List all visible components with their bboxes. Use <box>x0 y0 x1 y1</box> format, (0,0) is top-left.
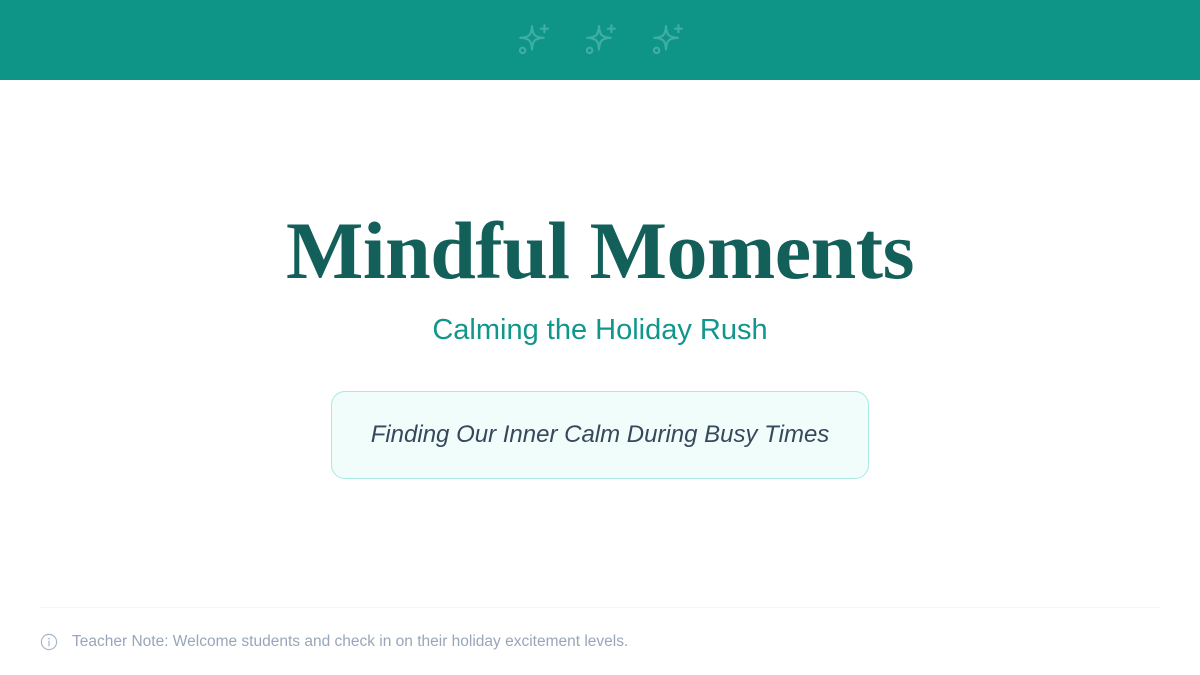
sparkle-icon <box>580 20 620 60</box>
sparkle-icon-2 <box>580 20 620 60</box>
teacher-note-text: Teacher Note: Welcome students and check… <box>72 633 628 651</box>
footer-bar: Teacher Note: Welcome students and check… <box>40 607 1160 675</box>
top-banner <box>0 0 1200 80</box>
sparkle-icon-3 <box>647 20 687 60</box>
slide-content: Mindful Moments Calming the Holiday Rush… <box>0 80 1200 600</box>
page-subtitle: Calming the Holiday Rush <box>432 314 767 347</box>
quote-box: Finding Our Inner Calm During Busy Times <box>331 391 869 479</box>
sparkle-icon <box>647 20 687 60</box>
info-icon <box>40 633 58 651</box>
page-title: Mindful Moments <box>286 210 914 292</box>
sparkle-icon <box>513 20 553 60</box>
sparkle-icon-1 <box>513 20 553 60</box>
quote-text: Finding Our Inner Calm During Busy Times <box>371 421 830 449</box>
